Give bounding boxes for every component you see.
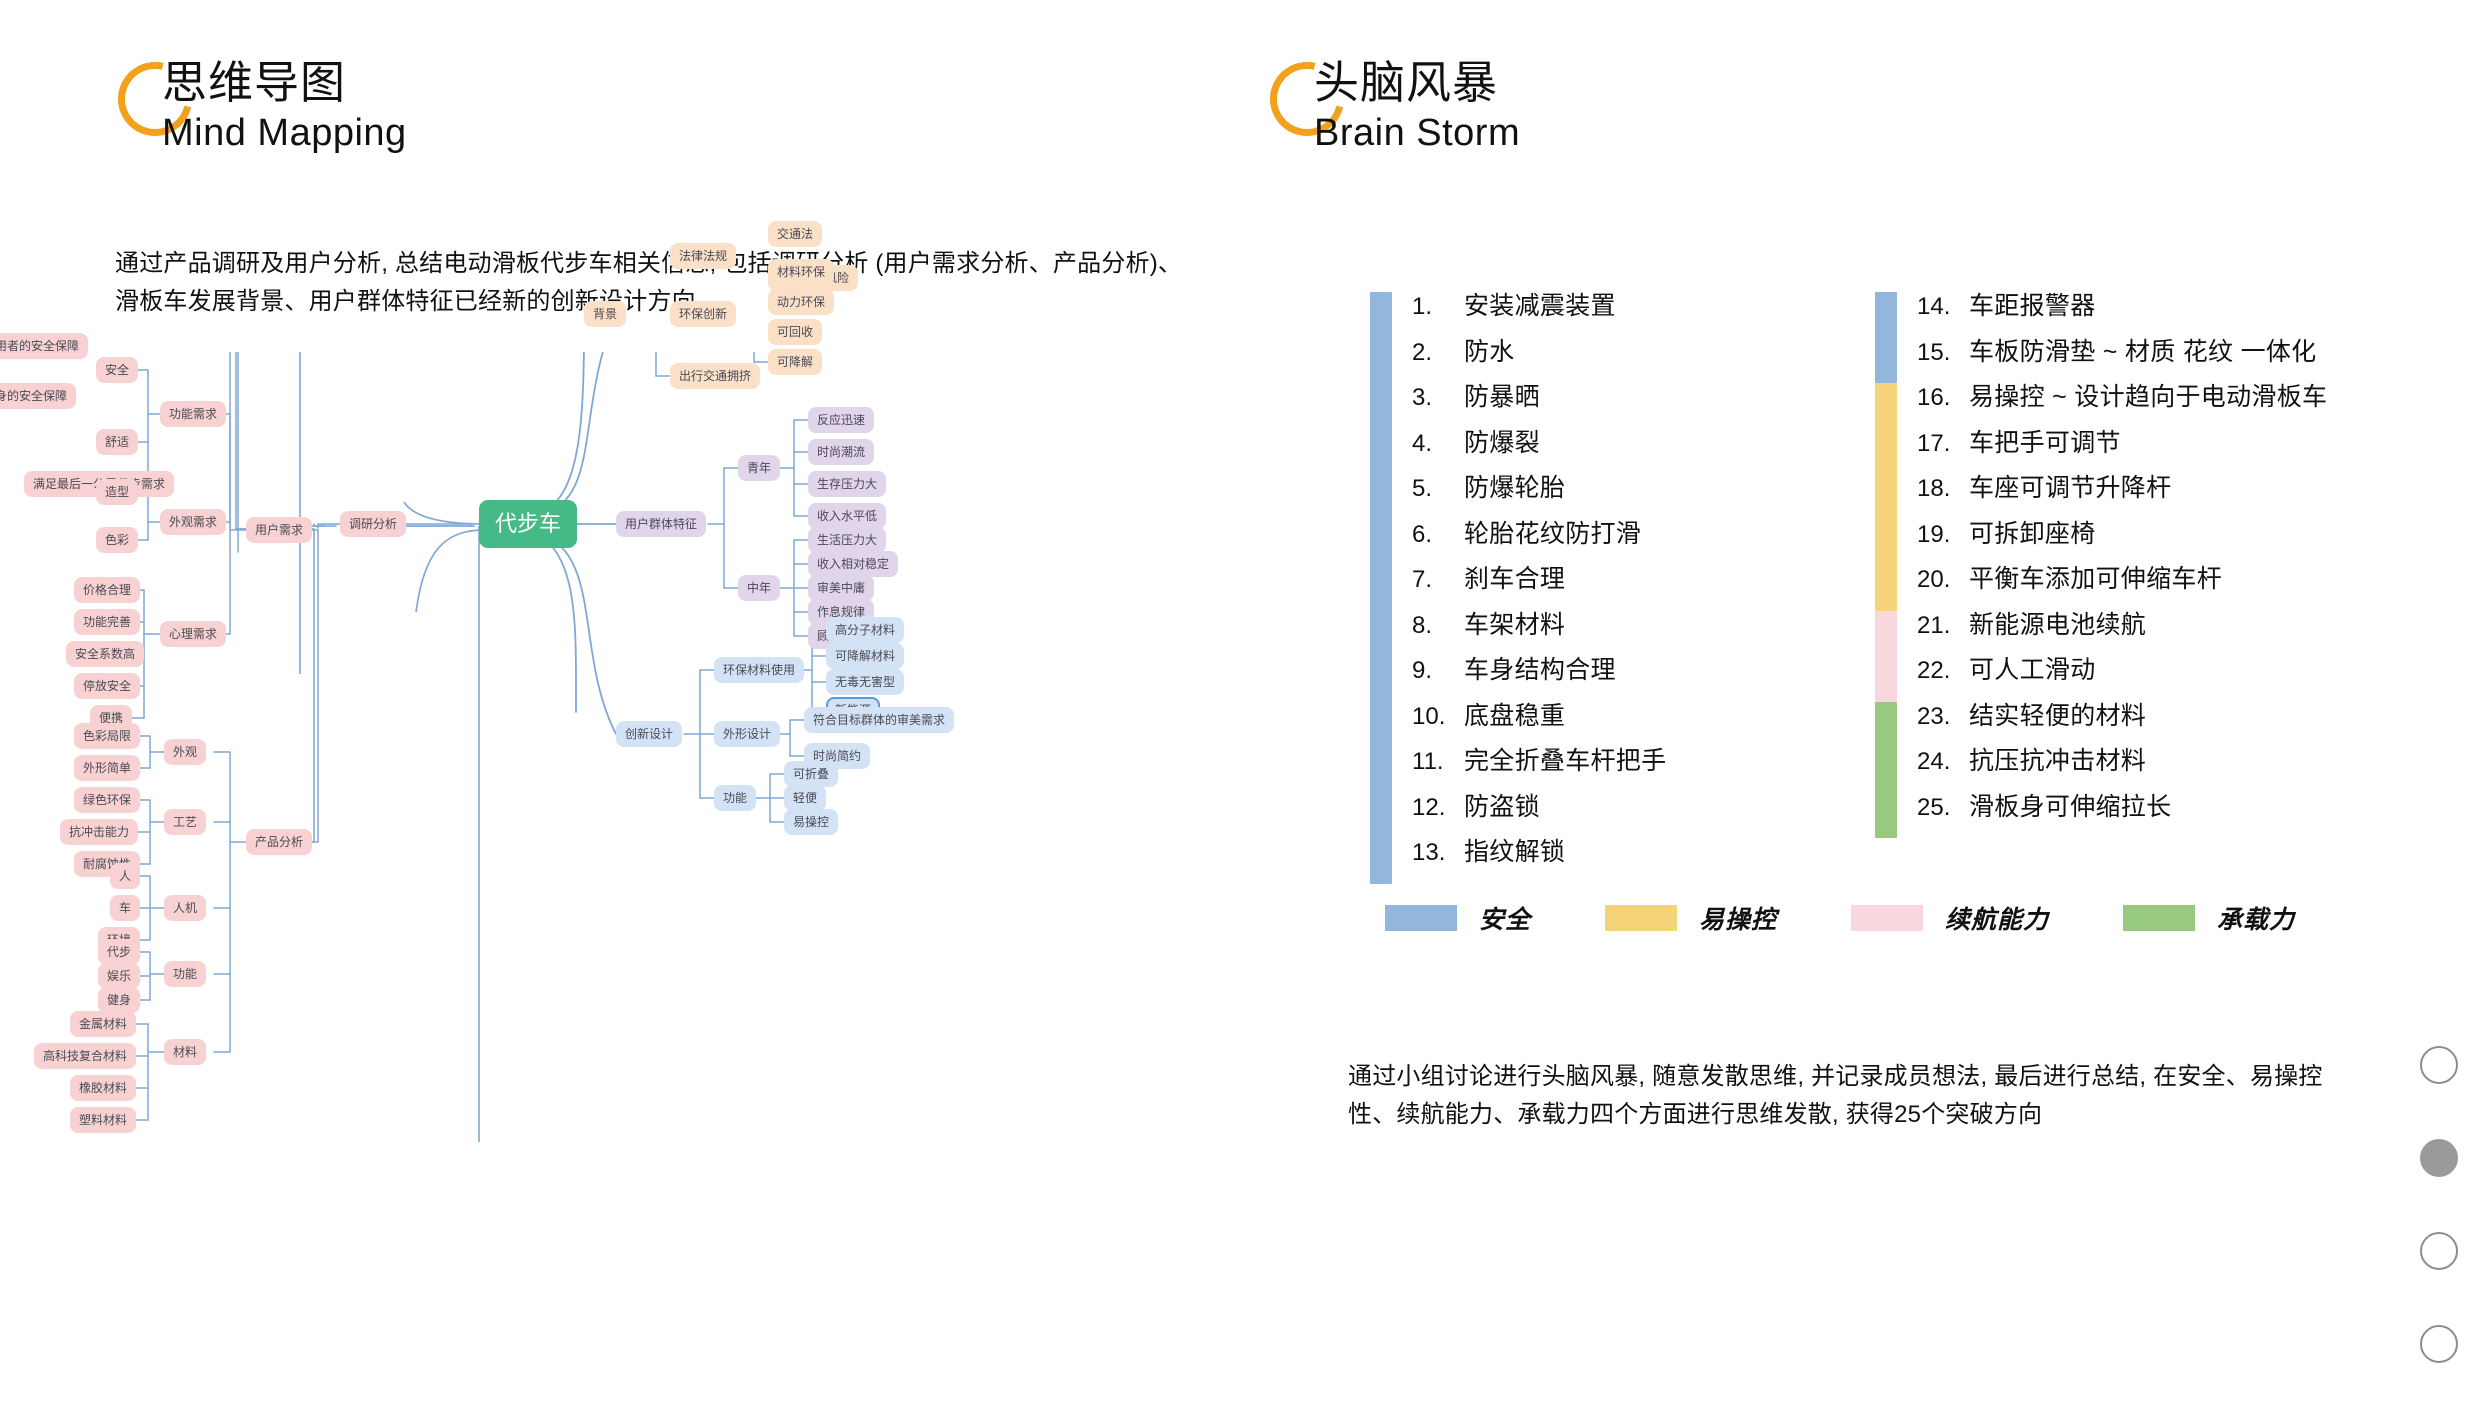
pagination-dot[interactable] — [2420, 1325, 2458, 1363]
mindmap-node-craft[interactable]: 工艺 — [164, 809, 206, 835]
brainstorm-item-number: 16. — [1917, 375, 1969, 421]
brainstorm-item-text: 车身结构合理 — [1464, 648, 1616, 694]
mindmap-node-middle-age[interactable]: 中年 — [738, 575, 780, 601]
brainstorm-item-text: 车架材料 — [1464, 603, 1565, 649]
brainstorm-item: 6.轮胎花纹防打滑 — [1412, 512, 1666, 558]
brainstorm-item: 18.车座可调节升降杆 — [1917, 466, 2327, 512]
legend-swatch — [2123, 905, 2195, 931]
brainstorm-color-band — [1875, 702, 1897, 839]
mindmap-node-rubber-material[interactable]: 橡胶材料 — [70, 1075, 136, 1101]
brainstorm-item-number: 24. — [1917, 739, 1969, 785]
brainstorm-item-text: 车座可调节升降杆 — [1969, 466, 2171, 512]
pagination-dot[interactable] — [2420, 1046, 2458, 1084]
brainstorm-item-text: 安装减震装置 — [1464, 284, 1616, 330]
mindmap-node-power-eco[interactable]: 动力环保 — [768, 289, 834, 315]
mindmap-node-simple-shape[interactable]: 外形简单 — [74, 755, 140, 781]
brainstorm-color-band — [1875, 383, 1897, 611]
brainstorm-item-number: 22. — [1917, 648, 1969, 694]
brainstorm-item: 2.防水 — [1412, 330, 1666, 376]
brainstorm-item: 13.指纹解锁 — [1412, 830, 1666, 876]
brainstorm-item-number: 20. — [1917, 557, 1969, 603]
mindmap-node-eco-material-use[interactable]: 环保材料使用 — [714, 657, 804, 683]
mindmap-node-person[interactable]: 人 — [110, 863, 140, 889]
brain-storm-title-en: Brain Storm — [1314, 110, 1520, 156]
mindmap-node-eco-innovation[interactable]: 环保创新 — [670, 301, 736, 327]
mindmap-node-functional-needs[interactable]: 功能需求 — [160, 401, 226, 427]
legend-item: 承载力 — [2123, 900, 2295, 936]
mindmap-node-eco-friendly[interactable]: 绿色环保 — [74, 787, 140, 813]
mindmap-node-plastic-material[interactable]: 塑料材料 — [70, 1107, 136, 1133]
brainstorm-color-band — [1875, 611, 1897, 702]
brainstorm-item-text: 防爆轮胎 — [1464, 466, 1565, 512]
brainstorm-panel: 1.安装减震装置2.防水3.防暴晒4.防爆裂5.防爆轮胎6.轮胎花纹防打滑7.刹… — [1370, 292, 2370, 892]
mindmap-node-appearance[interactable]: 外观 — [164, 739, 206, 765]
brainstorm-item-number: 5. — [1412, 466, 1464, 512]
mindmap-node-safety[interactable]: 安全 — [96, 357, 138, 383]
mindmap-node-styling[interactable]: 造型 — [96, 479, 138, 505]
mindmap-node-product-analysis[interactable]: 产品分析 — [246, 829, 312, 855]
legend-label: 安全 — [1479, 900, 1531, 936]
brainstorm-item: 21.新能源电池续航 — [1917, 603, 2327, 649]
brainstorm-item-number: 6. — [1412, 512, 1464, 558]
mindmap-node-body-safety[interactable]: 对车身的安全保障 — [0, 383, 76, 409]
brainstorm-item-number: 25. — [1917, 785, 1969, 831]
brainstorm-item-number: 10. — [1412, 694, 1464, 740]
mindmap-node-vehicle[interactable]: 车 — [110, 895, 140, 921]
brainstorm-item-text: 平衡车添加可伸缩车杆 — [1969, 557, 2222, 603]
brainstorm-item-number: 19. — [1917, 512, 1969, 558]
legend-label: 续航能力 — [1945, 900, 2049, 936]
brainstorm-item-text: 刹车合理 — [1464, 557, 1565, 603]
mindmap-node-traffic-law[interactable]: 交通法 — [768, 221, 822, 247]
brainstorm-item: 9.车身结构合理 — [1412, 648, 1666, 694]
brainstorm-item-number: 12. — [1412, 785, 1464, 831]
mindmap-node-metal-material[interactable]: 金属材料 — [70, 1011, 136, 1037]
mind-mapping-description: 通过产品调研及用户分析, 总结电动滑板代步车相关信息, 包括调研分析 (用户需求… — [115, 245, 1205, 321]
brainstorm-item-text: 轮胎花纹防打滑 — [1464, 512, 1641, 558]
mindmap-node-foldable[interactable]: 可折叠 — [784, 761, 838, 787]
legend-label: 易操控 — [1699, 900, 1777, 936]
mindmap-node-entertainment[interactable]: 娱乐 — [98, 963, 140, 989]
brain-storm-description: 通过小组讨论进行头脑风暴, 随意发散思维, 并记录成员想法, 最后进行总结, 在… — [1348, 1058, 2358, 1134]
mindmap-node-color[interactable]: 色彩 — [96, 527, 138, 553]
brainstorm-item: 11.完全折叠车杆把手 — [1412, 739, 1666, 785]
brainstorm-item-number: 21. — [1917, 603, 1969, 649]
brainstorm-item: 5.防爆轮胎 — [1412, 466, 1666, 512]
brainstorm-item: 3.防暴晒 — [1412, 375, 1666, 421]
mindmap-node-complete-function[interactable]: 功能完善 — [74, 609, 140, 635]
mindmap-node-user-group-traits[interactable]: 用户群体特征 — [616, 511, 706, 537]
brainstorm-item-text: 防水 — [1464, 330, 1515, 376]
brainstorm-list-right: 14.车距报警器15.车板防滑垫 ~ 材质 花纹 一体化16.易操控 ~ 设计趋… — [1917, 284, 2327, 830]
mindmap-node-polymer-material[interactable]: 高分子材料 — [826, 617, 904, 643]
mindmap-node-psych-needs[interactable]: 心理需求 — [160, 621, 226, 647]
mindmap-node-laws[interactable]: 法律法规 — [670, 243, 736, 269]
mindmap-node-shape-design[interactable]: 外形设计 — [714, 721, 780, 747]
brainstorm-item: 12.防盗锁 — [1412, 785, 1666, 831]
legend-item: 易操控 — [1605, 900, 1777, 936]
brainstorm-item-text: 抗压抗冲击材料 — [1969, 739, 2146, 785]
brainstorm-item-number: 23. — [1917, 694, 1969, 740]
brainstorm-item: 4.防爆裂 — [1412, 421, 1666, 467]
pagination-dot[interactable] — [2420, 1139, 2458, 1177]
mindmap-node-hitech-composite[interactable]: 高科技复合材料 — [34, 1043, 136, 1069]
mindmap-node-impact-resistance[interactable]: 抗冲击能力 — [60, 819, 138, 845]
mindmap-node-comfort[interactable]: 舒适 — [96, 429, 138, 455]
mindmap-node-survival-pressure[interactable]: 生存压力大 — [808, 471, 886, 497]
legend-swatch — [1851, 905, 1923, 931]
brainstorm-item: 7.刹车合理 — [1412, 557, 1666, 603]
mindmap-node-moderate-taste[interactable]: 审美中庸 — [808, 575, 874, 601]
brainstorm-item-number: 11. — [1412, 739, 1464, 785]
mindmap-node-human-machine[interactable]: 人机 — [164, 895, 206, 921]
mindmap-node-research-analysis[interactable]: 调研分析 — [340, 511, 406, 537]
brainstorm-left-color-bar — [1370, 292, 1392, 884]
mindmap-node-parking-safety[interactable]: 停放安全 — [74, 673, 140, 699]
mindmap-node-innovative-design[interactable]: 创新设计 — [616, 721, 682, 747]
mindmap-node-material[interactable]: 材料 — [164, 1039, 206, 1065]
brainstorm-legend: 安全易操控续航能力承载力 — [1385, 900, 2369, 936]
mindmap-node-target-aesthetics[interactable]: 符合目标群体的审美需求 — [804, 707, 954, 733]
brainstorm-item: 14.车距报警器 — [1917, 284, 2327, 330]
brainstorm-item: 15.车板防滑垫 ~ 材质 花纹 一体化 — [1917, 330, 2327, 376]
mindmap-node-color-limited[interactable]: 色彩局限 — [74, 723, 140, 749]
mindmap-node-recyclable[interactable]: 可回收 — [768, 319, 822, 345]
mindmap-node-easy-control[interactable]: 易操控 — [784, 809, 838, 835]
brainstorm-item-number: 15. — [1917, 330, 1969, 376]
brainstorm-item-number: 17. — [1917, 421, 1969, 467]
mindmap-node-youth[interactable]: 青年 — [738, 455, 780, 481]
mindmap-node-degradable-material[interactable]: 可降解材料 — [826, 643, 904, 669]
brainstorm-item: 25.滑板身可伸缩拉长 — [1917, 785, 2327, 831]
brainstorm-color-band — [1875, 292, 1897, 383]
mindmap-root-node[interactable]: 代步车 — [479, 500, 577, 548]
brainstorm-item-text: 易操控 ~ 设计趋向于电动滑板车 — [1969, 375, 2327, 421]
mindmap-node-user-needs[interactable]: 用户需求 — [246, 517, 312, 543]
brainstorm-item-text: 结实轻便的材料 — [1969, 694, 2146, 740]
brainstorm-item-text: 防爆裂 — [1464, 421, 1540, 467]
brainstorm-item-text: 防暴晒 — [1464, 375, 1540, 421]
brainstorm-item-number: 8. — [1412, 603, 1464, 649]
mindmap-node-material-eco[interactable]: 材料环保 — [768, 259, 834, 285]
brainstorm-item-text: 滑板身可伸缩拉长 — [1969, 785, 2171, 831]
brainstorm-item: 23.结实轻便的材料 — [1917, 694, 2327, 740]
mindmap-node-function-innov[interactable]: 功能 — [714, 785, 756, 811]
mindmap-node-reasonable-price[interactable]: 价格合理 — [74, 577, 140, 603]
mindmap-node-stable-income[interactable]: 收入相对稳定 — [808, 551, 898, 577]
brainstorm-item: 24.抗压抗冲击材料 — [1917, 739, 2327, 785]
mindmap-node-low-income[interactable]: 收入水平低 — [808, 503, 886, 529]
brainstorm-item-number: 18. — [1917, 466, 1969, 512]
brainstorm-item: 16.易操控 ~ 设计趋向于电动滑板车 — [1917, 375, 2327, 421]
brainstorm-item-text: 新能源电池续航 — [1969, 603, 2146, 649]
brainstorm-item: 22.可人工滑动 — [1917, 648, 2327, 694]
legend-label: 承载力 — [2217, 900, 2295, 936]
mindmap-node-user-safety[interactable]: 对使用者的安全保障 — [0, 333, 88, 359]
brainstorm-item-number: 4. — [1412, 421, 1464, 467]
brainstorm-item-text: 车板防滑垫 ~ 材质 花纹 一体化 — [1969, 330, 2316, 376]
pagination[interactable] — [2420, 1046, 2458, 1418]
legend-item: 续航能力 — [1851, 900, 2049, 936]
brain-storm-title-cn: 头脑风暴 — [1314, 56, 1498, 110]
brainstorm-item-text: 底盘稳重 — [1464, 694, 1565, 740]
brainstorm-item: 20.平衡车添加可伸缩车杆 — [1917, 557, 2327, 603]
brainstorm-item-number: 9. — [1412, 648, 1464, 694]
mindmap-node-life-pressure[interactable]: 生活压力大 — [808, 527, 886, 553]
mindmap-node-function[interactable]: 功能 — [164, 961, 206, 987]
brainstorm-item-text: 防盗锁 — [1464, 785, 1540, 831]
mind-mapping-title-en: Mind Mapping — [162, 110, 407, 156]
brainstorm-list-left: 1.安装减震装置2.防水3.防暴晒4.防爆裂5.防爆轮胎6.轮胎花纹防打滑7.刹… — [1412, 284, 1666, 876]
mindmap-node-traffic-congestion[interactable]: 出行交通拥挤 — [670, 363, 760, 389]
mindmap-node-high-safety-factor[interactable]: 安全系数高 — [66, 641, 144, 667]
mindmap-node-commute[interactable]: 代步 — [98, 939, 140, 965]
mindmap-node-appearance-needs[interactable]: 外观需求 — [160, 509, 226, 535]
brainstorm-item-number: 13. — [1412, 830, 1464, 876]
brainstorm-item-number: 14. — [1917, 284, 1969, 330]
mindmap-node-nontoxic[interactable]: 无毒无害型 — [826, 669, 904, 695]
legend-swatch — [1605, 905, 1677, 931]
mind-map: 代步车 调研分析 用户需求 产品分析 功能需求 外观需求 心理需求 安全 舒适 … — [104, 352, 1304, 1312]
brainstorm-item-number: 3. — [1412, 375, 1464, 421]
legend-item: 安全 — [1385, 900, 1531, 936]
brainstorm-item-text: 可拆卸座椅 — [1969, 512, 2096, 558]
mindmap-node-fitness[interactable]: 健身 — [98, 987, 140, 1013]
brainstorm-item: 10.底盘稳重 — [1412, 694, 1666, 740]
brainstorm-item-text: 可人工滑动 — [1969, 648, 2096, 694]
brainstorm-item: 8.车架材料 — [1412, 603, 1666, 649]
mind-mapping-title-cn: 思维导图 — [162, 56, 346, 110]
brainstorm-item-text: 指纹解锁 — [1464, 830, 1565, 876]
legend-swatch — [1385, 905, 1457, 931]
brainstorm-item-text: 车把手可调节 — [1969, 421, 2121, 467]
brainstorm-item-number: 1. — [1412, 284, 1464, 330]
mindmap-node-quick-reaction[interactable]: 反应迅速 — [808, 407, 874, 433]
pagination-dot[interactable] — [2420, 1232, 2458, 1270]
brainstorm-item-number: 7. — [1412, 557, 1464, 603]
slide: 思维导图 Mind Mapping 头脑风暴 Brain Storm 通过产品调… — [0, 0, 2482, 1396]
brainstorm-item-text: 车距报警器 — [1969, 284, 2096, 330]
brainstorm-item-text: 完全折叠车杆把手 — [1464, 739, 1666, 785]
mindmap-node-background[interactable]: 背景 — [584, 301, 626, 327]
mindmap-node-lightweight[interactable]: 轻便 — [784, 785, 826, 811]
mindmap-node-fashion-trend[interactable]: 时尚潮流 — [808, 439, 874, 465]
mindmap-node-degradable[interactable]: 可降解 — [768, 349, 822, 375]
brainstorm-item: 17.车把手可调节 — [1917, 421, 2327, 467]
brainstorm-item-number: 2. — [1412, 330, 1464, 376]
brainstorm-item: 1.安装减震装置 — [1412, 284, 1666, 330]
brainstorm-item: 19.可拆卸座椅 — [1917, 512, 2327, 558]
